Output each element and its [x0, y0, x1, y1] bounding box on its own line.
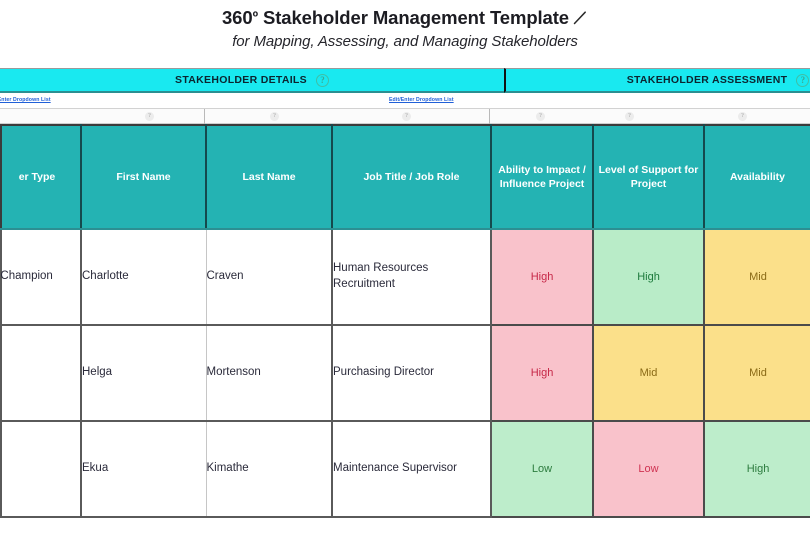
cell-availability[interactable]: Mid — [704, 229, 810, 325]
cell-job-title[interactable]: Purchasing Director — [332, 325, 491, 421]
cell-stakeholder-type[interactable] — [1, 421, 81, 517]
cell-availability[interactable]: High — [704, 421, 810, 517]
cell-stakeholder-type[interactable]: / Champion — [1, 229, 81, 325]
column-header-availability[interactable]: Availability — [704, 125, 810, 229]
column-header-level-of-support[interactable]: Level of Support for Project — [593, 125, 704, 229]
page-subtitle: for Mapping, Assessing, and Managing Sta… — [0, 33, 810, 50]
pencil-icon[interactable] — [572, 10, 588, 26]
page-title-text: Stakeholder Management Template — [258, 7, 569, 28]
cell-ability-to-impact[interactable]: High — [491, 229, 593, 325]
table-row: Ekua Kimathe Maintenance Supervisor Low … — [1, 421, 810, 517]
edit-dropdown-list-link[interactable]: Edit/Enter Dropdown List — [389, 97, 454, 103]
cell-last-name[interactable]: Mortenson — [206, 325, 332, 421]
help-icon[interactable]: ? — [145, 112, 154, 121]
cell-first-name[interactable]: Ekua — [81, 421, 206, 517]
section-header-stakeholder-assessment[interactable]: STAKEHOLDER ASSESSMENT ? — [504, 68, 810, 93]
column-divider — [489, 109, 490, 124]
help-icon[interactable]: ? — [796, 74, 809, 87]
table-header-row: er Type First Name Last Name Job Title /… — [1, 125, 810, 229]
help-icon[interactable]: ? — [270, 112, 279, 121]
cell-last-name[interactable]: Craven — [206, 229, 332, 325]
cell-level-of-support[interactable]: Mid — [593, 325, 704, 421]
cell-stakeholder-type[interactable] — [1, 325, 81, 421]
cell-level-of-support[interactable]: Low — [593, 421, 704, 517]
section-label: STAKEHOLDER ASSESSMENT — [627, 74, 788, 86]
cell-ability-to-impact[interactable]: High — [491, 325, 593, 421]
edit-dropdown-list-link[interactable]: Edit/Enter Dropdown List — [0, 97, 51, 103]
section-label: STAKEHOLDER DETAILS — [175, 74, 307, 86]
cell-job-title[interactable]: Human Resources Recruitment — [332, 229, 491, 325]
help-icon[interactable]: ? — [316, 74, 329, 87]
help-icon[interactable]: ? — [625, 112, 634, 121]
column-help-row: ? ? ? ? ? ? — [0, 109, 810, 124]
cell-first-name[interactable]: Helga — [81, 325, 206, 421]
column-divider — [204, 109, 205, 124]
column-header-stakeholder-type[interactable]: er Type — [1, 125, 81, 229]
table-row: / Champion Charlotte Craven Human Resour… — [1, 229, 810, 325]
column-header-job-title[interactable]: Job Title / Job Role — [332, 125, 491, 229]
stakeholder-table: er Type First Name Last Name Job Title /… — [0, 124, 810, 518]
table-row: Helga Mortenson Purchasing Director High… — [1, 325, 810, 421]
column-header-label: er Type — [19, 171, 56, 183]
cell-availability[interactable]: Mid — [704, 325, 810, 421]
section-header-stakeholder-details[interactable]: STAKEHOLDER DETAILS ? — [0, 68, 504, 93]
spreadsheet-canvas: 360º Stakeholder Management Template for… — [0, 0, 810, 538]
help-icon[interactable]: ? — [536, 112, 545, 121]
title-block: 360º Stakeholder Management Template for… — [0, 0, 810, 66]
cell-ability-to-impact[interactable]: Low — [491, 421, 593, 517]
help-icon[interactable]: ? — [402, 112, 411, 121]
cell-job-title[interactable]: Maintenance Supervisor — [332, 421, 491, 517]
page-title: 360º Stakeholder Management Template — [222, 7, 588, 29]
page-title-number: 360 — [222, 7, 253, 28]
cell-first-name[interactable]: Charlotte — [81, 229, 206, 325]
column-header-first-name[interactable]: First Name — [81, 125, 206, 229]
cell-last-name[interactable]: Kimathe — [206, 421, 332, 517]
dropdown-link-row: Edit/Enter Dropdown List Edit/Enter Drop… — [0, 95, 810, 109]
cell-level-of-support[interactable]: High — [593, 229, 704, 325]
help-icon[interactable]: ? — [738, 112, 747, 121]
column-header-ability-to-impact[interactable]: Ability to Impact / Influence Project — [491, 125, 593, 229]
cell-value: / Champion — [0, 270, 53, 282]
column-header-last-name[interactable]: Last Name — [206, 125, 332, 229]
